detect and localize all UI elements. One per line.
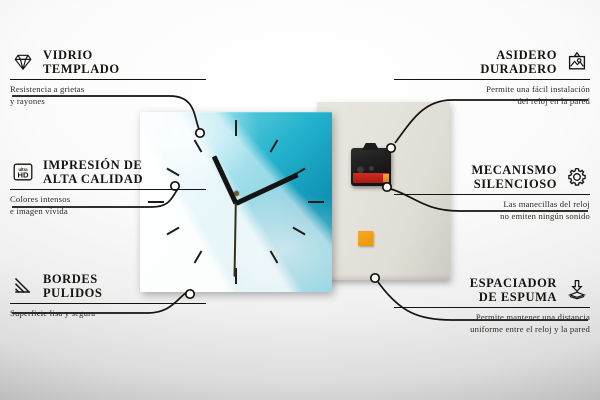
feature-description: Resistencia a grietas y rayones	[10, 84, 206, 107]
diamond-icon	[10, 49, 36, 75]
feature-divider	[10, 303, 206, 304]
feature-title-line2: ALTA CALIDAD	[43, 172, 143, 186]
feature-title-line1: MECANISMO	[471, 163, 557, 177]
feature-desc-line2: e imagen vívida	[10, 206, 68, 216]
mechanism-knob	[357, 166, 364, 173]
feature-header: ASIDERO DURADERO	[394, 48, 590, 76]
feature-mecanismo-silencioso[interactable]: MECANISMO SILENCIOSO Las manecillas del …	[394, 163, 590, 223]
hour-hand	[212, 155, 239, 204]
feature-desc-line1: Colores intensos	[10, 194, 70, 204]
polished-edges-icon	[10, 273, 36, 299]
feature-desc-line2: no emiten ningún sonido	[500, 211, 590, 221]
feature-title-line2: DURADERO	[480, 62, 557, 76]
feature-divider	[10, 189, 206, 190]
feature-asidero-duradero[interactable]: ASIDERO DURADERO Permite una fácil insta…	[394, 48, 590, 108]
feature-bordes-pulidos[interactable]: BORDES PULIDOS Superficie lisa y segura	[10, 272, 206, 320]
feature-desc-line1: Permite una fácil instalación	[486, 84, 590, 94]
feature-title: ASIDERO DURADERO	[480, 48, 557, 76]
clock-mechanism	[351, 148, 391, 186]
feature-desc-line1: Resistencia a grietas	[10, 84, 84, 94]
feature-description: Permite mantener una distancia uniforme …	[394, 312, 590, 335]
feature-header: BORDES PULIDOS	[10, 272, 206, 300]
svg-text:HD: HD	[18, 171, 29, 180]
foam-spacer-icon	[564, 277, 590, 303]
feature-title: BORDES PULIDOS	[43, 272, 102, 300]
feature-impresion-alta-calidad[interactable]: ultra HD IMPRESIÓN DE ALTA CALIDAD Color…	[10, 158, 206, 218]
feature-divider	[394, 194, 590, 195]
feature-title-line1: VIDRIO	[43, 48, 93, 62]
tick-2	[292, 168, 305, 177]
tick-4	[292, 227, 305, 236]
feature-desc-line2: y rayones	[10, 96, 45, 106]
feature-title-line1: ASIDERO	[496, 48, 557, 62]
ultra-hd-icon: ultra HD	[10, 159, 36, 185]
minute-hand	[235, 172, 299, 205]
tick-5	[270, 250, 279, 263]
feature-header: ultra HD IMPRESIÓN DE ALTA CALIDAD	[10, 158, 206, 186]
tick-6	[235, 268, 237, 284]
infographic-stage: VIDRIO TEMPLADO Resistencia a grietas y …	[0, 0, 600, 400]
feature-description: Colores intensos e imagen vívida	[10, 194, 206, 217]
feature-description: Superficie lisa y segura	[10, 308, 206, 320]
feature-title-line2: PULIDOS	[43, 286, 102, 300]
feature-title-line2: SILENCIOSO	[474, 177, 557, 191]
tick-3	[308, 201, 324, 203]
feature-vidrio-templado[interactable]: VIDRIO TEMPLADO Resistencia a grietas y …	[10, 48, 206, 108]
feature-title: ESPACIADOR DE ESPUMA	[470, 276, 557, 304]
feature-title-line2: DE ESPUMA	[479, 290, 557, 304]
tick-7	[194, 250, 203, 263]
feature-description: Las manecillas del reloj no emiten ningú…	[394, 199, 590, 222]
feature-title-line1: IMPRESIÓN DE	[43, 158, 142, 172]
feature-desc-line1: Superficie lisa y segura	[10, 308, 95, 318]
foam-spacer-pad	[358, 231, 373, 246]
tick-8	[166, 227, 179, 236]
feature-title-line2: TEMPLADO	[43, 62, 120, 76]
feature-title: VIDRIO TEMPLADO	[43, 48, 120, 76]
feature-title: MECANISMO SILENCIOSO	[471, 163, 557, 191]
feature-description: Permite una fácil instalación del reloj …	[394, 84, 590, 107]
feature-desc-line2: uniforme entre el reloj y la pared	[470, 324, 590, 334]
feature-desc-line2: del reloj en la pared	[518, 96, 590, 106]
feature-title-line1: ESPACIADOR	[470, 276, 557, 290]
tick-11	[194, 139, 203, 152]
feature-desc-line1: Permite mantener una distancia	[476, 312, 590, 322]
feature-header: VIDRIO TEMPLADO	[10, 48, 206, 76]
feature-title: IMPRESIÓN DE ALTA CALIDAD	[43, 158, 143, 186]
tick-12	[235, 120, 237, 136]
second-hand	[234, 203, 237, 277]
feature-divider	[394, 307, 590, 308]
mechanism-knob-small	[369, 166, 374, 171]
battery	[353, 173, 389, 183]
picture-hanger-icon	[564, 49, 590, 75]
gear-icon	[564, 164, 590, 190]
feature-desc-line1: Las manecillas del reloj	[503, 199, 590, 209]
feature-header: ESPACIADOR DE ESPUMA	[394, 276, 590, 304]
feature-header: MECANISMO SILENCIOSO	[394, 163, 590, 191]
feature-title-line1: BORDES	[43, 272, 98, 286]
clock-center-pin	[234, 191, 239, 196]
feature-espaciador-de-espuma[interactable]: ESPACIADOR DE ESPUMA Permite mantener un…	[394, 276, 590, 336]
feature-divider	[394, 79, 590, 80]
tick-1	[270, 139, 279, 152]
feature-divider	[10, 79, 206, 80]
